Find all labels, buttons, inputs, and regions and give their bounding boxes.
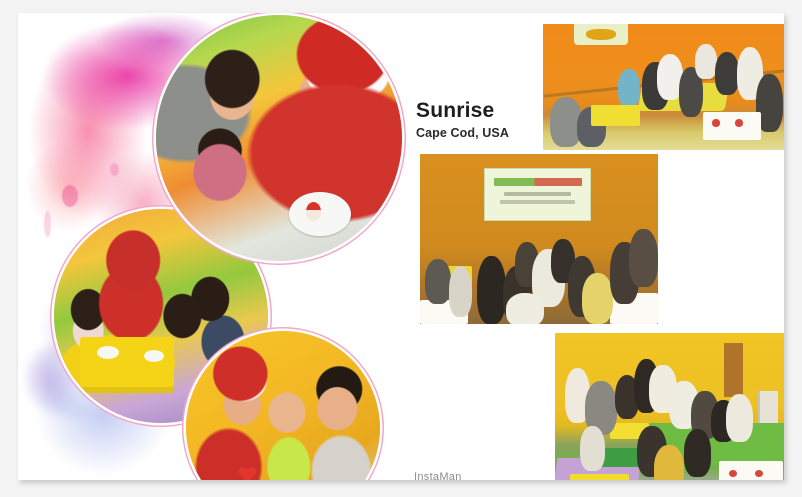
- person: [618, 69, 640, 107]
- circle-photo-santa-family-toddler[interactable]: [156, 15, 402, 261]
- photo-scene: [156, 15, 402, 261]
- person: [629, 229, 658, 287]
- person: [425, 259, 451, 303]
- circle-photo-image: [156, 15, 402, 261]
- paper-plate: [97, 346, 119, 359]
- yellow-table: [570, 474, 630, 480]
- person: [654, 445, 684, 480]
- photo-orange-playroom[interactable]: [543, 24, 784, 150]
- photo-yellow-activity-room[interactable]: [555, 333, 784, 480]
- yellow-table: [591, 105, 639, 126]
- person: [506, 293, 544, 324]
- circle-photo-santa-baby-mother[interactable]: [186, 331, 380, 480]
- white-table: [703, 112, 761, 140]
- person: [580, 426, 605, 471]
- white-table: [719, 461, 783, 480]
- projection-screen: [484, 168, 591, 221]
- radiator: [758, 391, 777, 426]
- paint-splatter: [110, 163, 119, 176]
- title-block: Sunrise Cape Cod, USA: [416, 99, 509, 140]
- paint-splatter: [44, 211, 51, 237]
- page-title: Sunrise: [416, 99, 509, 122]
- wall-sign: [574, 24, 627, 45]
- person: [582, 273, 613, 324]
- page-subtitle: Cape Cod, USA: [416, 126, 509, 140]
- person: [726, 394, 753, 442]
- person: [715, 52, 739, 95]
- paint-splatter: [62, 185, 78, 207]
- screenshot-canvas: Sunrise Cape Cod, USA: [0, 0, 802, 497]
- collage-page: Sunrise Cape Cod, USA: [18, 13, 784, 480]
- santa-cake: [306, 202, 321, 221]
- slide-title-line: [494, 178, 582, 186]
- photo-scene: [186, 331, 380, 480]
- photo-projector-classroom[interactable]: [420, 154, 658, 324]
- yellow-table: [80, 337, 174, 393]
- person: [695, 44, 717, 79]
- slide-text-line: [500, 200, 575, 204]
- person: [449, 266, 473, 317]
- watermark-label: InstaMan: [414, 471, 462, 480]
- wooden-door: [724, 343, 744, 397]
- person: [684, 429, 711, 477]
- person: [477, 256, 506, 324]
- slide-text-line: [504, 192, 571, 196]
- circle-photo-image: [186, 331, 380, 480]
